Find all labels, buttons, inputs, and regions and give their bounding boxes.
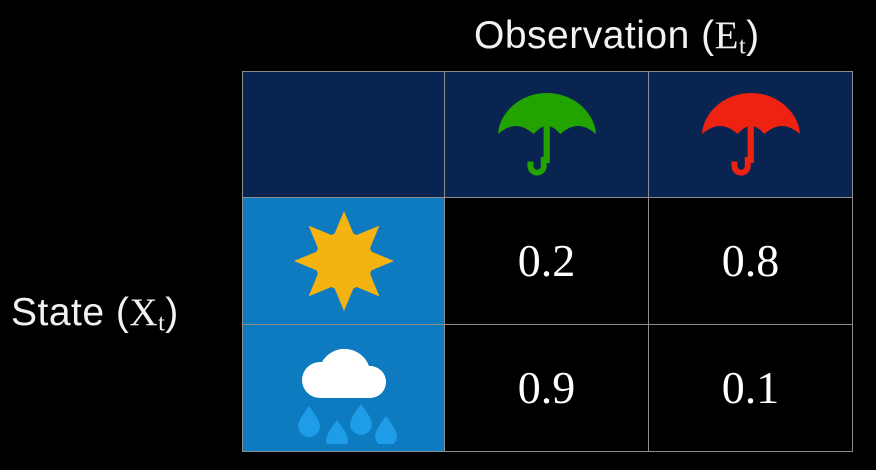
observation-paren-open: ( xyxy=(690,14,715,57)
column-header-no-umbrella xyxy=(445,72,649,198)
umbrella-green-icon-wrap xyxy=(445,72,648,197)
column-header-umbrella xyxy=(649,72,853,198)
cell-rainy-umbrella: 0.1 xyxy=(649,325,853,452)
cell-rainy-no-umbrella: 0.9 xyxy=(445,325,649,452)
sun-icon-wrap xyxy=(243,198,444,324)
state-paren-open: ( xyxy=(105,291,130,334)
table-row: 0.9 0.1 xyxy=(243,325,853,452)
table-row: 0.2 0.8 xyxy=(243,198,853,325)
observation-title-text: Observation xyxy=(474,14,690,57)
umbrella-red-icon xyxy=(699,87,803,183)
table-header-row xyxy=(243,72,853,198)
observation-variable-letter: E xyxy=(715,14,739,57)
observation-axis-title: Observation (Et) xyxy=(474,11,760,71)
state-title-text: State xyxy=(11,291,105,334)
state-variable: Xt xyxy=(129,291,165,334)
state-variable-letter: X xyxy=(129,291,158,334)
state-paren-close: ) xyxy=(165,291,179,334)
rain-cloud-icon xyxy=(287,332,401,444)
observation-paren-close: ) xyxy=(746,14,760,57)
observation-variable: Et xyxy=(715,14,747,57)
row-header-rainy xyxy=(243,325,445,452)
row-header-sunny xyxy=(243,198,445,325)
state-axis-title: State (Xt) xyxy=(11,288,179,348)
sun-icon xyxy=(292,209,396,313)
table-corner-cell xyxy=(243,72,445,198)
umbrella-red-icon-wrap xyxy=(649,72,852,197)
umbrella-green-icon xyxy=(495,87,599,183)
rain-cloud-icon-wrap xyxy=(243,325,444,451)
cell-sunny-umbrella: 0.8 xyxy=(649,198,853,325)
sensor-model-table: 0.2 0.8 xyxy=(242,71,853,452)
cell-sunny-no-umbrella: 0.2 xyxy=(445,198,649,325)
